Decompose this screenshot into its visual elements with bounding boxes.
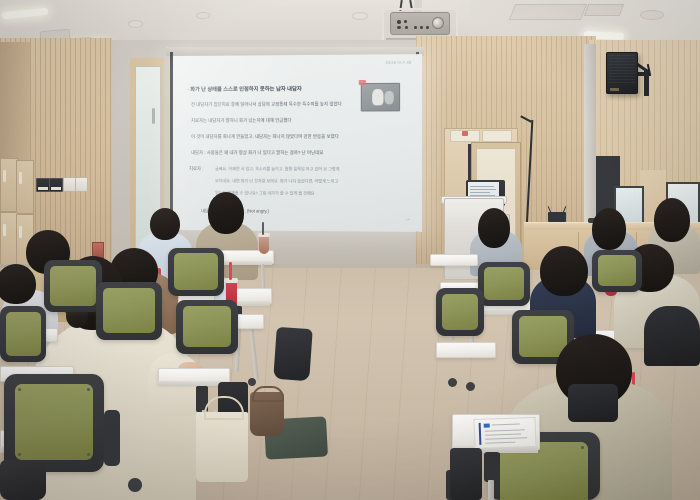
desk-right-3: [436, 342, 496, 358]
slide-bullet-dash: -: [187, 87, 189, 93]
light-switch-panel[interactable]: [36, 177, 86, 192]
wall-mounted-speaker: [606, 52, 638, 94]
ceiling-vent-3: [509, 4, 587, 20]
slide-line-4: 내담자 : 사람들은 왜 내가 항상 화가 나 있다고 말하는 걸까? 난 아닌…: [191, 150, 323, 156]
door-handle-icon[interactable]: [152, 108, 155, 124]
ceiling-speaker-5: [352, 12, 368, 20]
iced-drink-center-lid: [258, 233, 270, 237]
wifi-router: [548, 212, 566, 222]
attendee-back-right-head: [478, 208, 510, 248]
floor-bag-right-2: [568, 384, 618, 422]
record-indicator-icon: [359, 80, 366, 85]
slide-bullet-text: 화가 난 상태를 스스로 인정하지 못하는 남자 내담자: [190, 86, 302, 93]
door-sign-icon: [462, 131, 468, 136]
switch-4[interactable]: [75, 177, 88, 192]
attendee-center-head: [208, 192, 244, 234]
attendee-back-right3-head: [654, 198, 690, 242]
slide-page-number: 14: [406, 217, 409, 221]
chair-right-mid[interactable]: [436, 288, 484, 336]
chair-left-mid[interactable]: [96, 282, 162, 340]
cabinet-handle-1[interactable]: [3, 170, 6, 182]
desk-caster-3: [466, 382, 475, 391]
cabinet-door-2[interactable]: [16, 160, 34, 214]
desk-front-right-bracket: [484, 452, 500, 482]
ceiling-vent-4: [584, 4, 624, 16]
chair-front-left-arm: [104, 410, 120, 466]
switch-2[interactable]: [49, 178, 63, 192]
iced-drink-center[interactable]: [259, 236, 269, 254]
desk-caster-2: [448, 378, 457, 387]
handout-front-right[interactable]: [473, 417, 536, 449]
black-backpack: [273, 327, 313, 381]
slide-line-1: 전 내담자가 집단치료 중에 일어나서 상담의 교정통제 특수한 특수의를 높지…: [191, 101, 342, 108]
attendee-right-3-head: [540, 246, 588, 296]
chair-left-edge[interactable]: [0, 306, 46, 362]
ceiling-speaker-2: [196, 12, 210, 19]
chair-right-back[interactable]: [478, 262, 530, 306]
chair-center-mid[interactable]: [176, 300, 238, 354]
slide-line-2: 치료자는 내담자가 말하니 화가 났는지에 대해 언급했다: [191, 118, 292, 124]
classroom-photo: 감정코칭 지도자 과정 - 화가 난 상태를 스스로 인정하지 못하는 남자 내…: [0, 0, 700, 500]
cabinet-handle-2[interactable]: [19, 172, 22, 184]
chair-front-left[interactable]: [4, 374, 104, 472]
slide-sub-label: 치료자 :: [189, 166, 204, 172]
slide-sub-line-1: 글쎄요. 어쩌면 서 있고, 목소리를 높이고, 팔짱 움직임 하고 있어 보 …: [215, 166, 339, 172]
ceiling-speaker-4: [640, 10, 664, 20]
chair-right-back-2[interactable]: [592, 250, 642, 292]
tote-bag-handle: [204, 396, 244, 420]
handbag-strap: [252, 386, 284, 402]
iced-drink-center-straw: [262, 222, 264, 235]
speaker-brand-logo: [610, 88, 619, 91]
cabinet-handle-3[interactable]: [3, 224, 6, 236]
thumbnail-figure-2: [385, 91, 394, 104]
attendee-right-5-body: [644, 306, 700, 366]
ceiling-speaker-1: [128, 20, 143, 28]
projector-lens-icon: [432, 17, 444, 29]
red-tumbler-straw: [229, 262, 232, 280]
door-sign-right: [482, 130, 512, 142]
switch-1[interactable]: [36, 178, 50, 192]
slide-bullet-title: - 화가 난 상태를 스스로 인정하지 못하는 남자 내담자: [187, 85, 302, 93]
attendee-back-right2-head: [592, 208, 626, 250]
chair-center-back[interactable]: [168, 248, 224, 296]
slide-header-text: 감정코칭 지도자 과정: [385, 60, 411, 64]
slide-video-thumbnail: [361, 83, 400, 112]
slide-sub-line-2: 보이네요. 내면 화가 난 것처럼 보여요. 화가 나지 않았다면, 어떻게 느…: [215, 178, 338, 184]
chair-caster-1: [128, 478, 142, 492]
cabinet-handle-4[interactable]: [19, 226, 22, 238]
desk-caster-1: [248, 378, 256, 386]
attendee-left-edge-head: [0, 264, 36, 304]
floor-bag-right: [450, 448, 482, 500]
thumbnail-figure-1: [372, 89, 383, 105]
canvas-tote-bag: [196, 412, 248, 482]
attendee-center-front-head: [150, 208, 180, 240]
desk-right-back: [430, 254, 478, 266]
floor-bag-left: [0, 460, 46, 500]
slide-line-3: 이 것이 내담자를 화나게 만들었고, 내담자는 화나지 않았다며 강한 반응을…: [191, 134, 339, 140]
chair-left-back[interactable]: [44, 260, 102, 312]
speaker-grill-icon: [609, 55, 635, 85]
desk-leg-9: [488, 480, 494, 500]
